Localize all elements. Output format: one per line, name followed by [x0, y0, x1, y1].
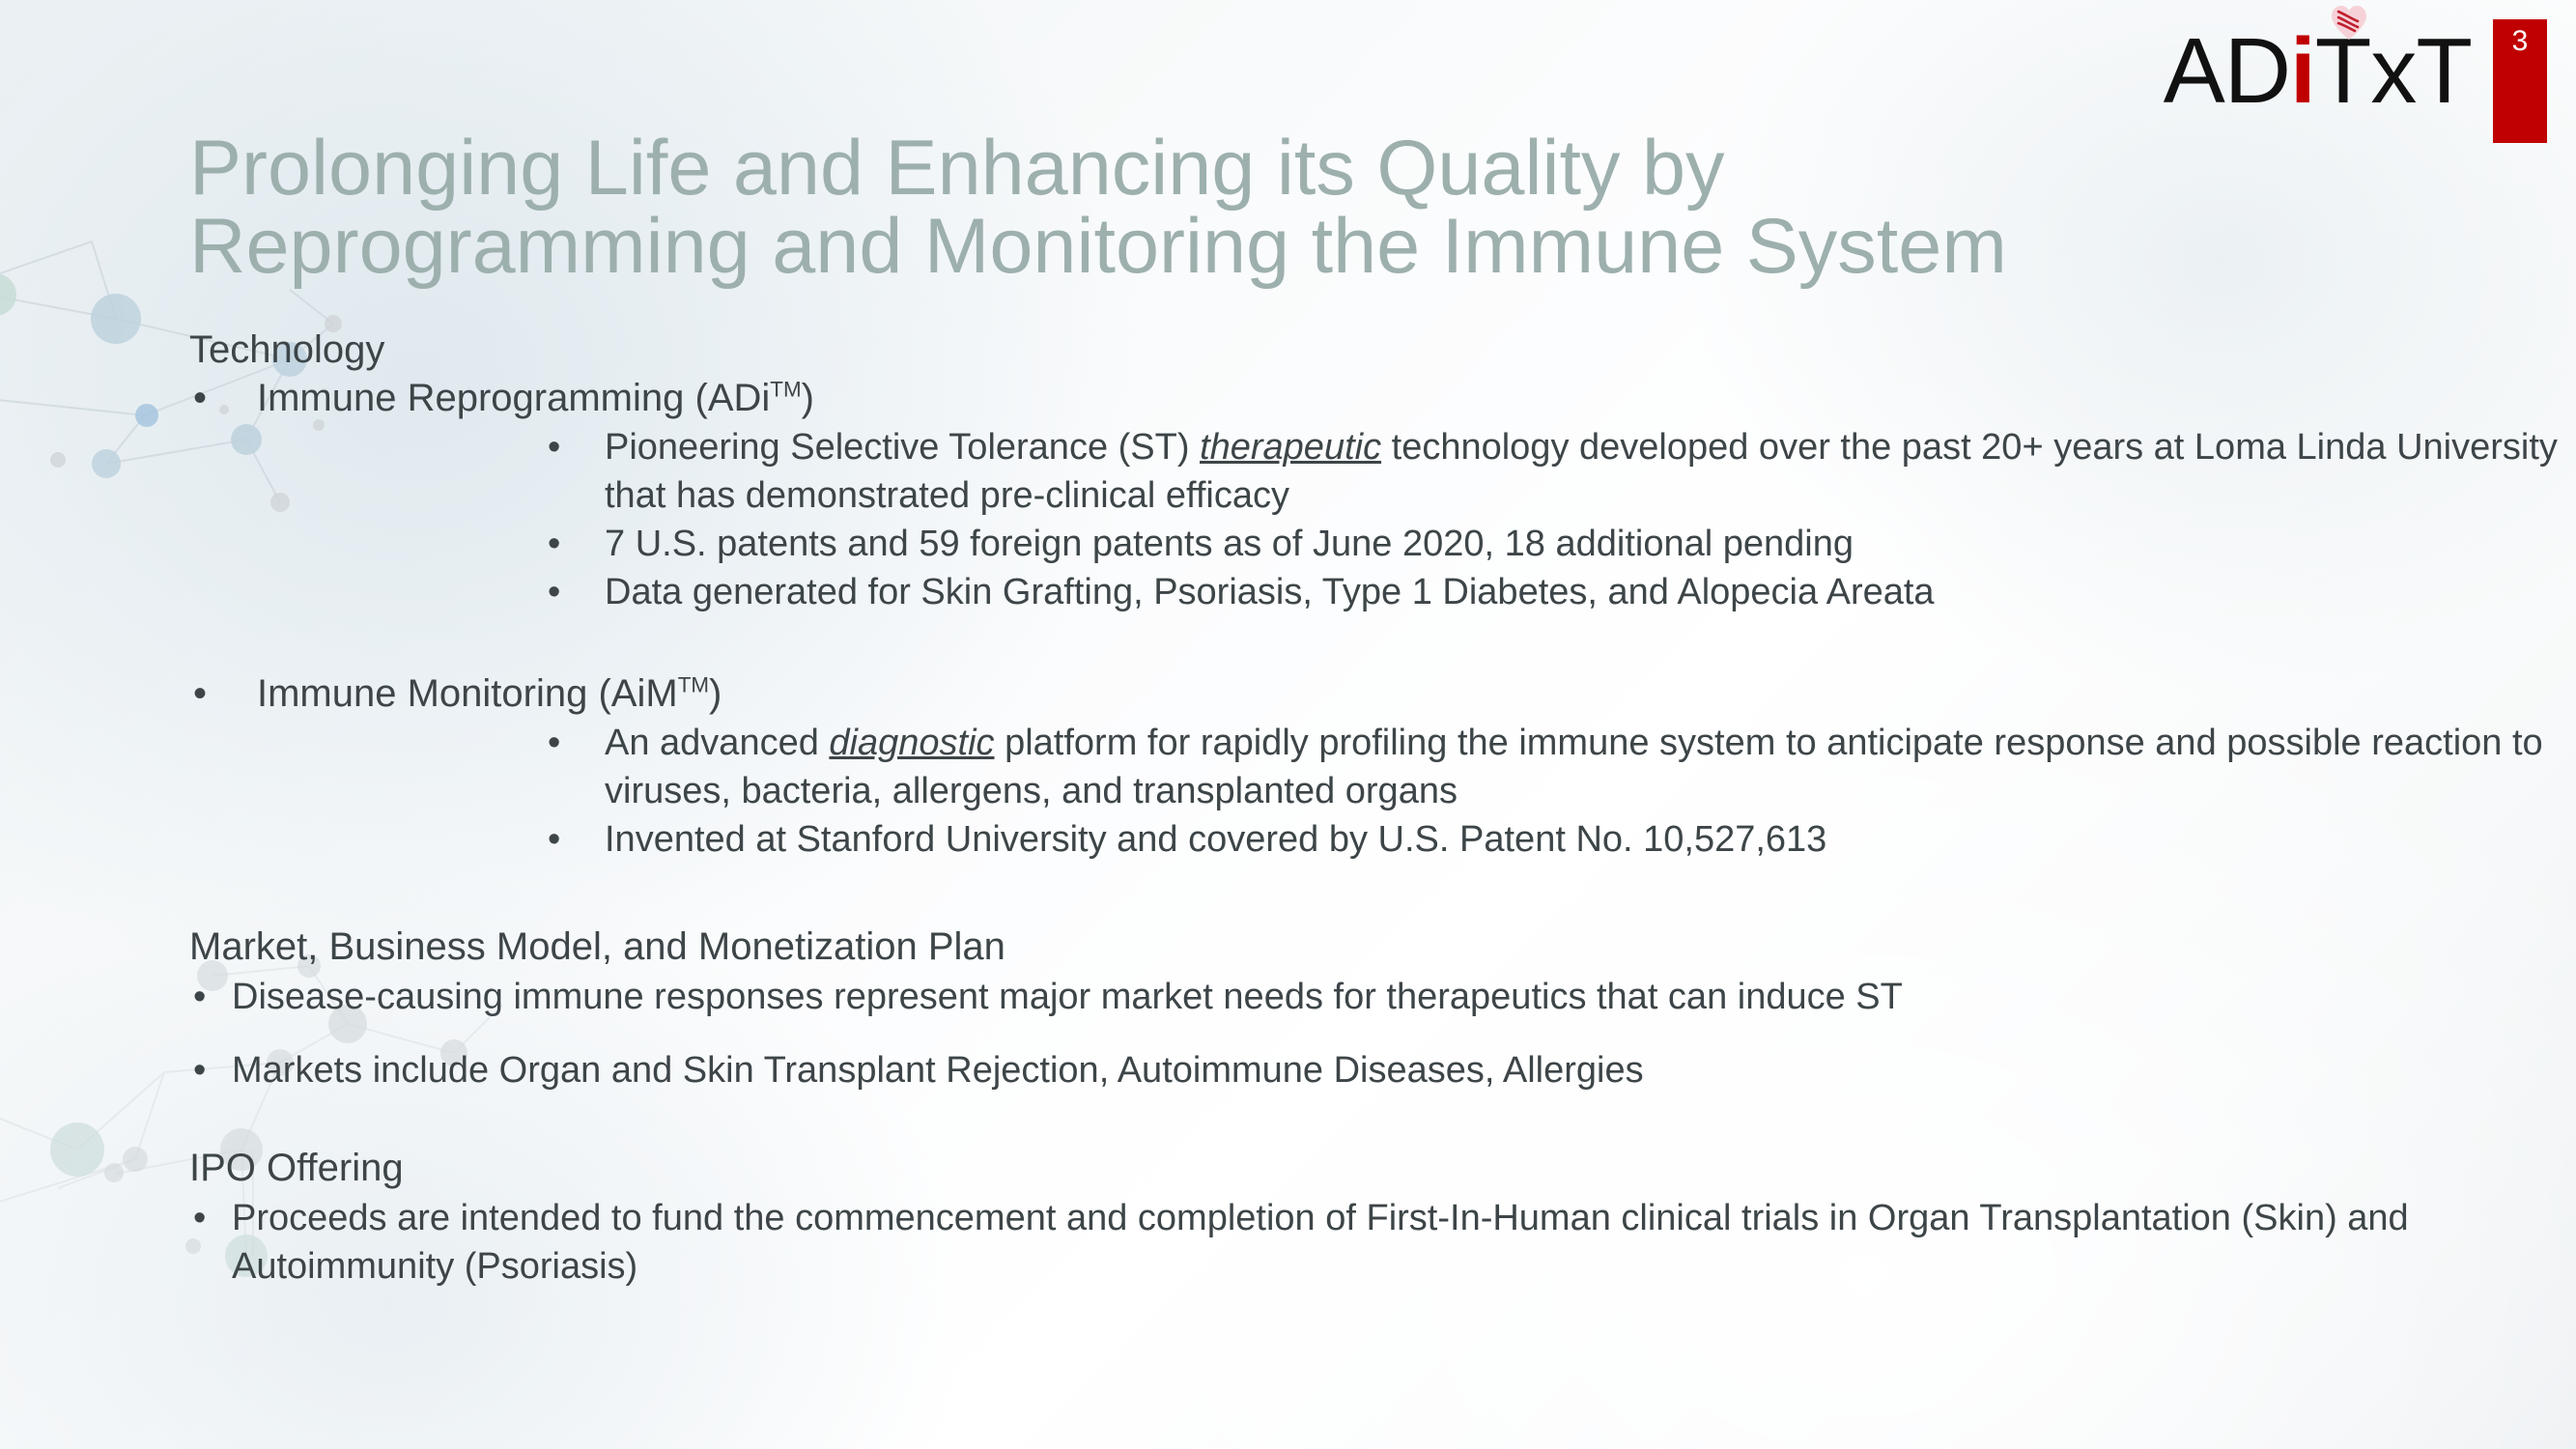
list-item: Markets include Organ and Skin Transplan… — [0, 1046, 2576, 1094]
trademark-superscript: TM — [678, 672, 709, 696]
bullet-text: Disease-causing immune responses represe… — [232, 977, 1903, 1017]
list-item: Invented at Stanford University and cove… — [257, 815, 2576, 864]
market-bullet-list: Disease-causing immune responses represe… — [0, 973, 2576, 1094]
bullet-text: Immune Monitoring (AiM — [257, 672, 678, 715]
bullet-text-tail: ) — [709, 672, 722, 715]
bullet-text: Markets include Organ and Skin Transplan… — [232, 1050, 1644, 1091]
emphasis-diagnostic: diagnostic — [829, 723, 994, 763]
trademark-superscript: TM — [770, 377, 801, 401]
list-item: Pioneering Selective Tolerance (ST) ther… — [257, 423, 2576, 520]
bullet-text: Immune Reprogramming (ADi — [257, 377, 770, 419]
subbullet-text: 7 U.S. patents and 59 foreign patents as… — [605, 524, 1854, 564]
bullet-text-tail: ) — [802, 377, 814, 419]
ipo-bullet-list: Proceeds are intended to fund the commen… — [0, 1194, 2576, 1291]
bullet-text: Proceeds are intended to fund the commen… — [232, 1198, 2409, 1287]
section-heading-ipo: IPO Offering — [189, 1147, 2576, 1190]
list-item: Disease-causing immune responses represe… — [0, 973, 2576, 1021]
brand-logo: ADiTxT 3 — [2164, 25, 2547, 143]
list-item: Immune Monitoring (AiMTM) An advanced di… — [0, 671, 2576, 865]
page-number: 3 — [2493, 25, 2547, 58]
presentation-slide: ADiTxT 3 Prolonging Life and Enhancing i… — [0, 0, 2576, 1449]
technology-bullet-list: Immune Reprogramming (ADiTM) Pioneering … — [0, 376, 2576, 864]
subbullet-text: Data generated for Skin Grafting, Psoria… — [605, 572, 1935, 612]
subbullet-text: Invented at Stanford University and cove… — [605, 819, 1826, 860]
technology-subbullet-list: Pioneering Selective Tolerance (ST) ther… — [257, 423, 2576, 617]
section-heading-market: Market, Business Model, and Monetization… — [189, 925, 2576, 969]
subbullet-text-pre: An advanced — [605, 723, 829, 763]
heart-dna-icon — [2330, 4, 2368, 43]
list-item: An advanced diagnostic platform for rapi… — [257, 719, 2576, 815]
list-item: Immune Reprogramming (ADiTM) Pioneering … — [0, 376, 2576, 617]
list-item: 7 U.S. patents and 59 foreign patents as… — [257, 520, 2576, 568]
emphasis-therapeutic: therapeutic — [1200, 427, 1381, 468]
spacer — [0, 866, 2576, 925]
aditxt-wordmark: ADiTxT — [2164, 25, 2493, 118]
title-line-2: Reprogramming and Monitoring the Immune … — [189, 208, 2179, 286]
page-title: Prolonging Life and Enhancing its Qualit… — [189, 129, 2179, 286]
slide-body: Technology Immune Reprogramming (ADiTM) … — [0, 328, 2576, 1316]
logo-letter-i: i — [2290, 19, 2315, 123]
list-item: Data generated for Skin Grafting, Psoria… — [257, 568, 2576, 616]
spacer — [0, 619, 2576, 671]
monitoring-subbullet-list: An advanced diagnostic platform for rapi… — [257, 719, 2576, 864]
logo-text-prefix: AD — [2164, 19, 2290, 123]
spacer — [0, 1120, 2576, 1147]
title-line-1: Prolonging Life and Enhancing its Qualit… — [189, 129, 2179, 208]
list-item: Proceeds are intended to fund the commen… — [0, 1194, 2576, 1291]
section-heading-technology: Technology — [189, 328, 2576, 372]
page-number-tab: 3 — [2493, 19, 2547, 143]
subbullet-text-pre: Pioneering Selective Tolerance (ST) — [605, 427, 1200, 468]
